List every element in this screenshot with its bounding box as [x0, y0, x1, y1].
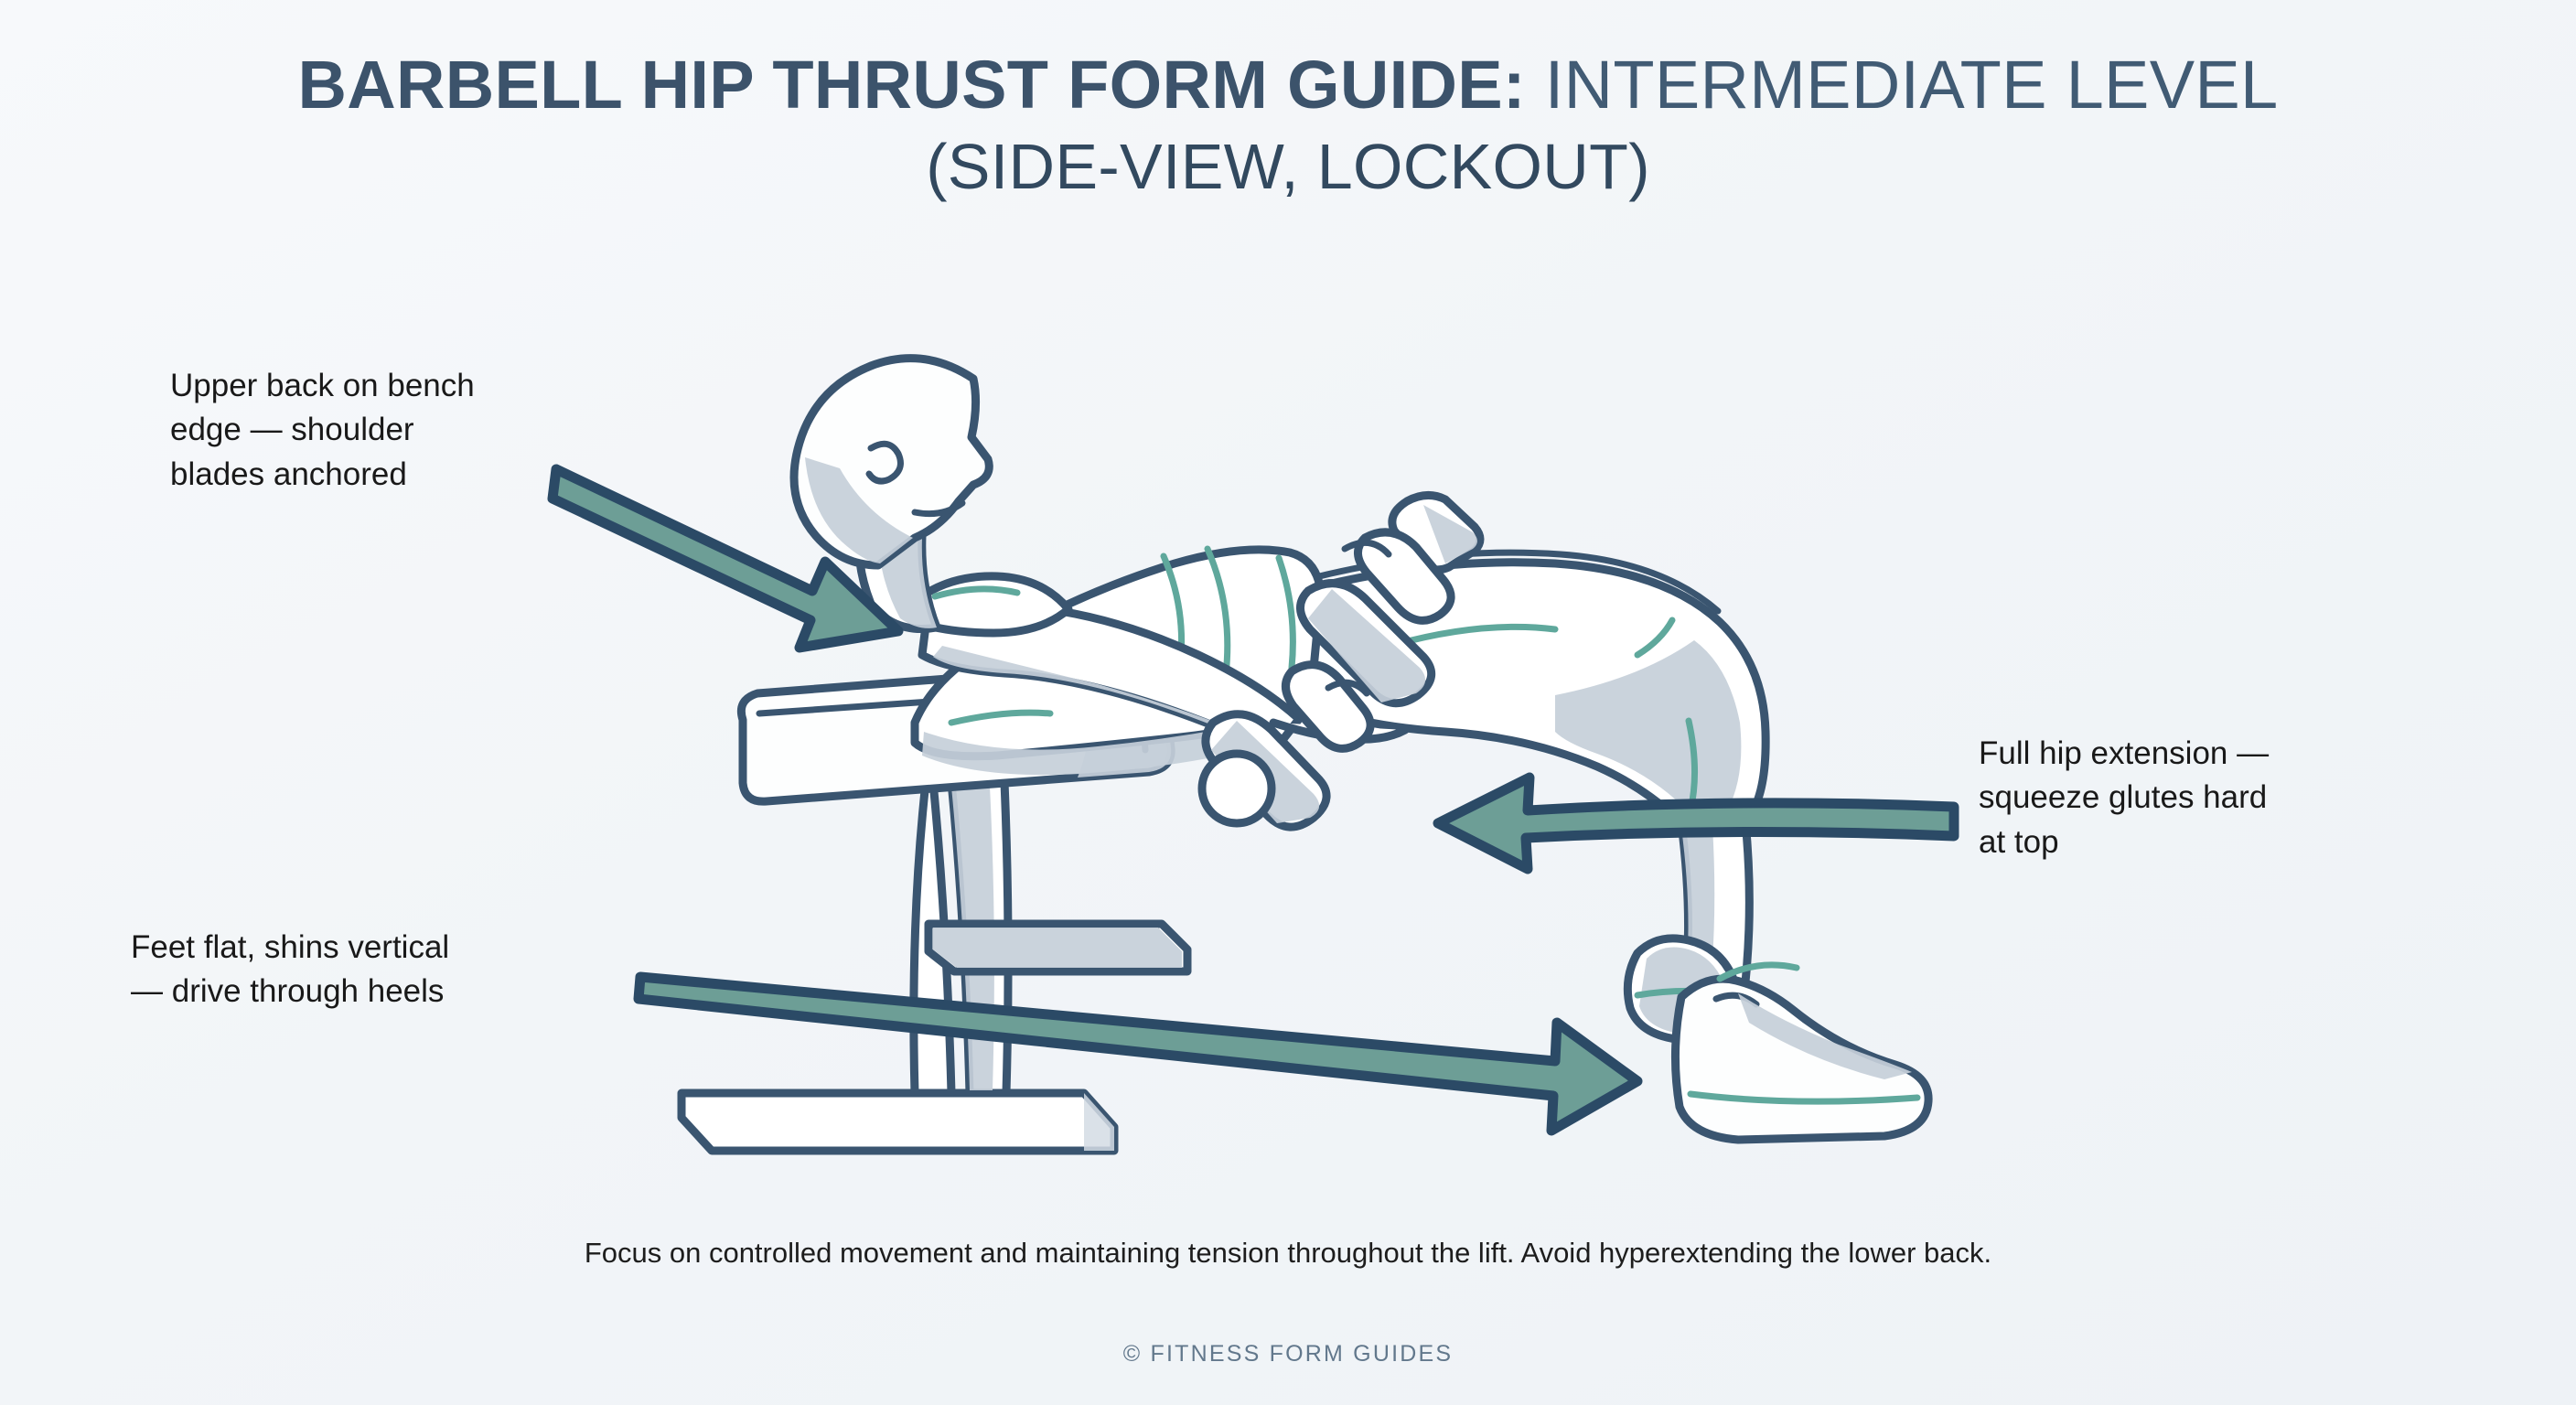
title-subtitle: (SIDE-VIEW, LOCKOUT) — [0, 130, 2576, 204]
annotation-upper-back: Upper back on bench edge — shoulder blad… — [170, 364, 628, 497]
copyright-notice: © FITNESS FORM GUIDES — [0, 1341, 2576, 1367]
annotation-feet: Feet flat, shins vertical — drive throug… — [131, 926, 616, 1014]
annotation-hip-extension: Full hip extension — squeeze glutes hard… — [1979, 732, 2436, 864]
page-title: BARBELL HIP THRUST FORM GUIDE: INTERMEDI… — [0, 46, 2576, 204]
title-bold-part: BARBELL HIP THRUST FORM GUIDE: — [297, 47, 1525, 123]
title-main-line: BARBELL HIP THRUST FORM GUIDE: INTERMEDI… — [0, 46, 2576, 124]
footer-caption: Focus on controlled movement and maintai… — [0, 1237, 2576, 1270]
title-light-part: INTERMEDIATE LEVEL — [1526, 47, 2279, 123]
hip-thrust-illustration: .ol{fill:#ffffff;stroke:#3a5570;stroke-w… — [0, 0, 2576, 1405]
shoes — [1627, 938, 1928, 1140]
infographic-canvas: .ol{fill:#ffffff;stroke:#3a5570;stroke-w… — [0, 0, 2576, 1405]
